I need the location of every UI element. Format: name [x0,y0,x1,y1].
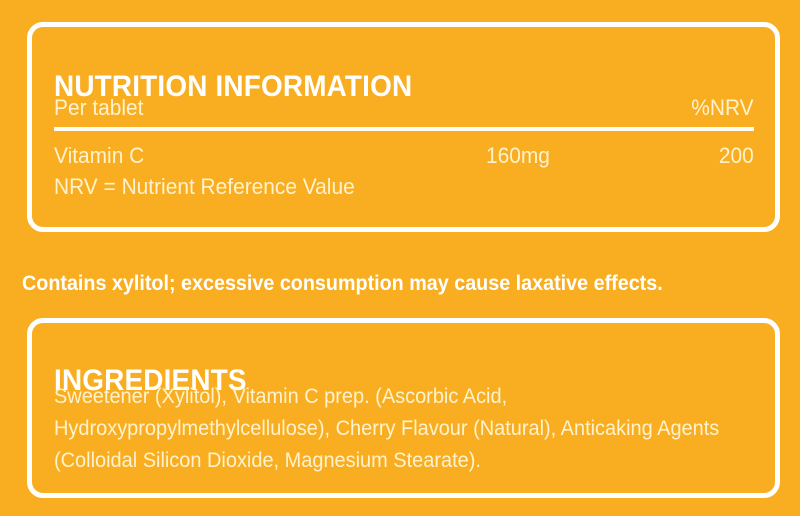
table-row: Vitamin C 160mg 200 [54,137,754,175]
nutrition-table-body: Vitamin C 160mg 200 [54,137,754,175]
nutrition-table: Per tablet %NRV [54,89,754,127]
nutrient-name: Vitamin C [54,137,144,175]
ingredients-text: Sweetener (Xylitol), Vitamin C prep. (As… [54,381,766,477]
ingredients-line: (Colloidal Silicon Dioxide, Magnesium St… [54,445,730,477]
nutrient-nrv: 200 [719,137,754,175]
nutrition-label: NUTRITION INFORMATION Per tablet %NRV Vi… [0,0,800,516]
nrv-footnote: NRV = Nutrient Reference Value [54,172,355,202]
column-header-nrv: %NRV [692,89,754,127]
nutrition-information-panel: NUTRITION INFORMATION Per tablet %NRV Vi… [27,22,780,232]
column-header-serving: Per tablet [54,89,143,127]
ingredients-panel: INGREDIENTS Sweetener (Xylitol), Vitamin… [27,318,780,498]
ingredients-line: Sweetener (Xylitol), Vitamin C prep. (As… [54,381,730,413]
xylitol-warning: Contains xylitol; excessive consumption … [22,271,736,297]
ingredients-line: Hydroxypropylmethylcellulose), Cherry Fl… [54,413,730,445]
table-divider [54,127,754,131]
nutrient-amount: 160mg [486,137,550,175]
table-header-row: Per tablet %NRV [54,89,754,127]
